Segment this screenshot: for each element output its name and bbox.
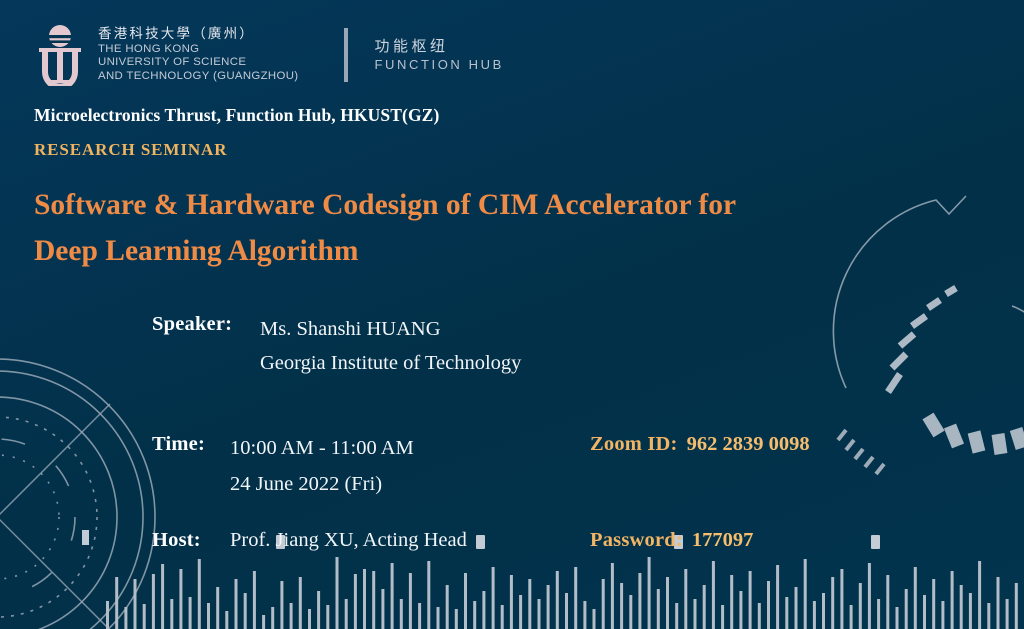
speaker-affiliation: Georgia Institute of Technology [260,352,521,374]
host-row: Host: Prof. Jiang XU, Acting Head Passwo… [152,529,952,552]
function-hub-chinese: 功能枢纽 [374,36,503,56]
title-line-2: Deep Learning Algorithm [34,228,794,274]
logo-en-line-1: THE HONG KONG [98,43,298,56]
time-value: 10:00 AM - 11:00 AM [230,437,414,459]
zoom-id-block: Zoom ID:962 2839 0098 [590,431,810,456]
host-label: Host: [152,529,230,552]
left-rings-decoration [0,352,162,629]
host-value: Prof. Jiang XU, Acting Head [230,529,467,551]
password-value[interactable]: 177097 [692,529,754,551]
date-value: 24 June 2022 (Fri) [230,473,382,495]
function-hub-english: FUNCTION HUB [374,56,503,74]
time-label: Time: [152,431,230,456]
speaker-name: Ms. Shanshi HUANG [260,318,441,340]
host-value-wrap: Prof. Jiang XU, Acting Head [230,529,590,552]
logo-en-line-3: AND TECHNOLOGY (GUANGZHOU) [98,70,298,83]
time-values: 10:00 AM - 11:00 AM 24 June 2022 (Fri) [230,431,590,503]
brand-header: 香港科技大學（廣州） THE HONG KONG UNIVERSITY OF S… [34,20,504,90]
time-row: Time: 10:00 AM - 11:00 AM 24 June 2022 (… [152,431,952,503]
logo-wordmark: 香港科技大學（廣州） THE HONG KONG UNIVERSITY OF S… [98,27,298,83]
hkust-logo-icon [34,24,86,86]
seminar-poster: 香港科技大學（廣州） THE HONG KONG UNIVERSITY OF S… [0,0,1024,629]
zoom-id-value[interactable]: 962 2839 0098 [687,433,810,455]
password-block: Password:177097 [590,529,753,552]
speaker-values: Ms. Shanshi HUANG Georgia Institute of T… [260,313,521,381]
logo-chinese-name: 香港科技大學（廣州） [98,27,298,43]
seminar-title: Software & Hardware Codesign of CIM Acce… [34,182,794,274]
organization-line: Microelectronics Thrust, Function Hub, H… [34,105,439,126]
logo-en-line-2: UNIVERSITY OF SCIENCE [98,56,298,69]
speaker-label: Speaker: [152,313,260,336]
zoom-id-label: Zoom ID: [590,431,678,455]
seminar-details: Speaker: Ms. Shanshi HUANG Georgia Insti… [152,313,952,552]
function-hub-wordmark: 功能枢纽 FUNCTION HUB [374,36,503,74]
speaker-row: Speaker: Ms. Shanshi HUANG Georgia Insti… [152,313,952,381]
seminar-kicker: RESEARCH SEMINAR [34,140,227,160]
title-line-1: Software & Hardware Codesign of CIM Acce… [34,182,794,228]
header-divider [344,28,348,82]
password-label: Password: [590,529,683,551]
